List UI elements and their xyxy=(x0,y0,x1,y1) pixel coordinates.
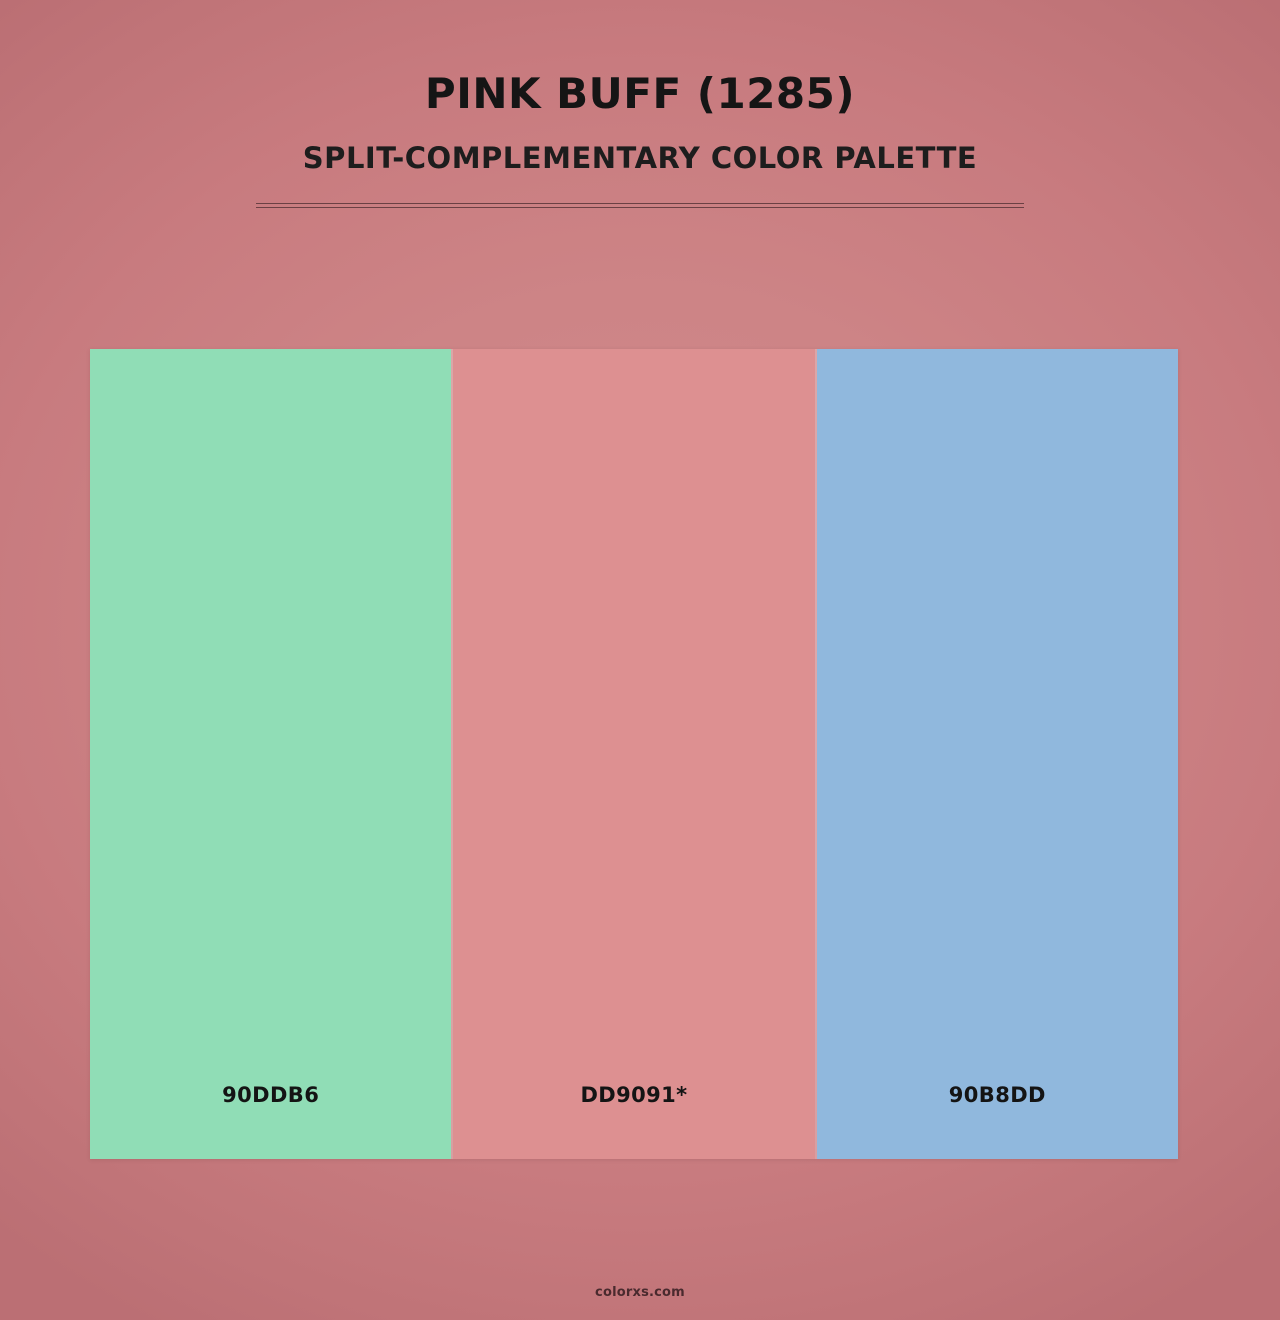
swatch-3[interactable]: 90B8DD xyxy=(817,349,1178,1159)
swatch-1-color[interactable] xyxy=(90,349,451,1031)
swatch-1[interactable]: 90DDB6 xyxy=(90,349,451,1159)
swatch-1-labelbox: 90DDB6 xyxy=(90,1031,451,1159)
page-title: PINK BUFF (1285) xyxy=(0,0,1280,118)
site-watermark: colorxs.com xyxy=(0,1285,1280,1300)
color-palette: 90DDB6 DD9091* 90B8DD xyxy=(90,349,1178,1159)
swatch-2-label: DD9091* xyxy=(580,1083,687,1107)
page-root: PINK BUFF (1285) SPLIT-COMPLEMENTARY COL… xyxy=(0,0,1280,1320)
swatch-2-labelbox: DD9091* xyxy=(453,1031,814,1159)
swatch-3-label: 90B8DD xyxy=(949,1083,1046,1107)
swatch-3-labelbox: 90B8DD xyxy=(817,1031,1178,1159)
header: PINK BUFF (1285) SPLIT-COMPLEMENTARY COL… xyxy=(0,0,1280,208)
swatch-2-color[interactable] xyxy=(453,349,814,1031)
header-divider xyxy=(256,203,1024,208)
swatch-1-label: 90DDB6 xyxy=(222,1083,319,1107)
swatch-3-color[interactable] xyxy=(817,349,1178,1031)
page-subtitle: SPLIT-COMPLEMENTARY COLOR PALETTE xyxy=(0,118,1280,175)
swatch-2[interactable]: DD9091* xyxy=(453,349,814,1159)
